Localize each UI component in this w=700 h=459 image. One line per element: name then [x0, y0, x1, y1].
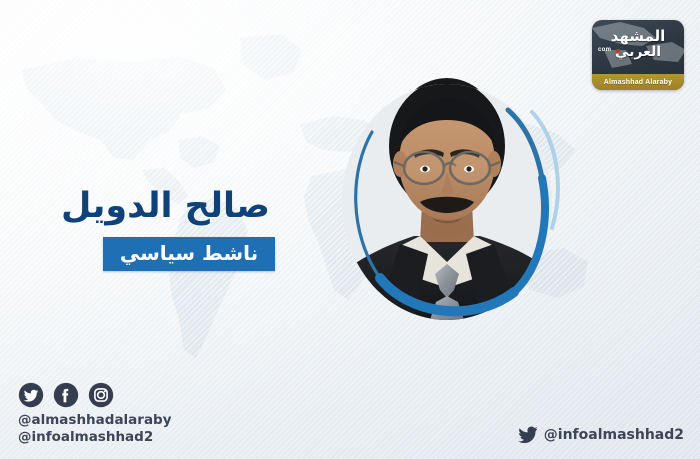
role-badge-label: ناشط سياسي: [120, 243, 258, 265]
handle-primary: @almashhadalaraby: [18, 412, 172, 429]
instagram-icon[interactable]: [88, 382, 114, 408]
news-graphic-card: صالح الدويل ناشط سياسي المشهد العربي com…: [0, 0, 700, 459]
channel-logo: المشهد العربي com Almashhad Alaraby: [592, 20, 684, 90]
twitter-icon: [518, 426, 538, 443]
social-block: @almashhadalaraby @infoalmashhad2: [18, 382, 172, 446]
twitter-icon[interactable]: [18, 382, 44, 408]
logo-red-dot: [616, 49, 620, 53]
logo-com-label: com: [598, 47, 611, 53]
logo-arabic-text: المشهد العربي: [592, 28, 684, 60]
portrait-ring: [332, 66, 564, 332]
handle-secondary: @infoalmashhad2: [18, 429, 172, 446]
role-badge: ناشط سياسي: [103, 237, 275, 271]
logo-english-name: Almashhad Alaraby: [604, 79, 673, 86]
logo-name-band: Almashhad Alaraby: [592, 74, 684, 90]
logo-arabic-line1: المشهد: [592, 28, 684, 44]
social-handles: @almashhadalaraby @infoalmashhad2: [18, 412, 172, 446]
person-name: صالح الدويل: [61, 186, 270, 226]
footer-handle-block: @infoalmashhad2: [518, 426, 684, 443]
portrait-container: [338, 72, 556, 324]
facebook-icon[interactable]: [53, 382, 79, 408]
social-icon-row: [18, 382, 172, 408]
footer-handle: @infoalmashhad2: [544, 427, 684, 443]
